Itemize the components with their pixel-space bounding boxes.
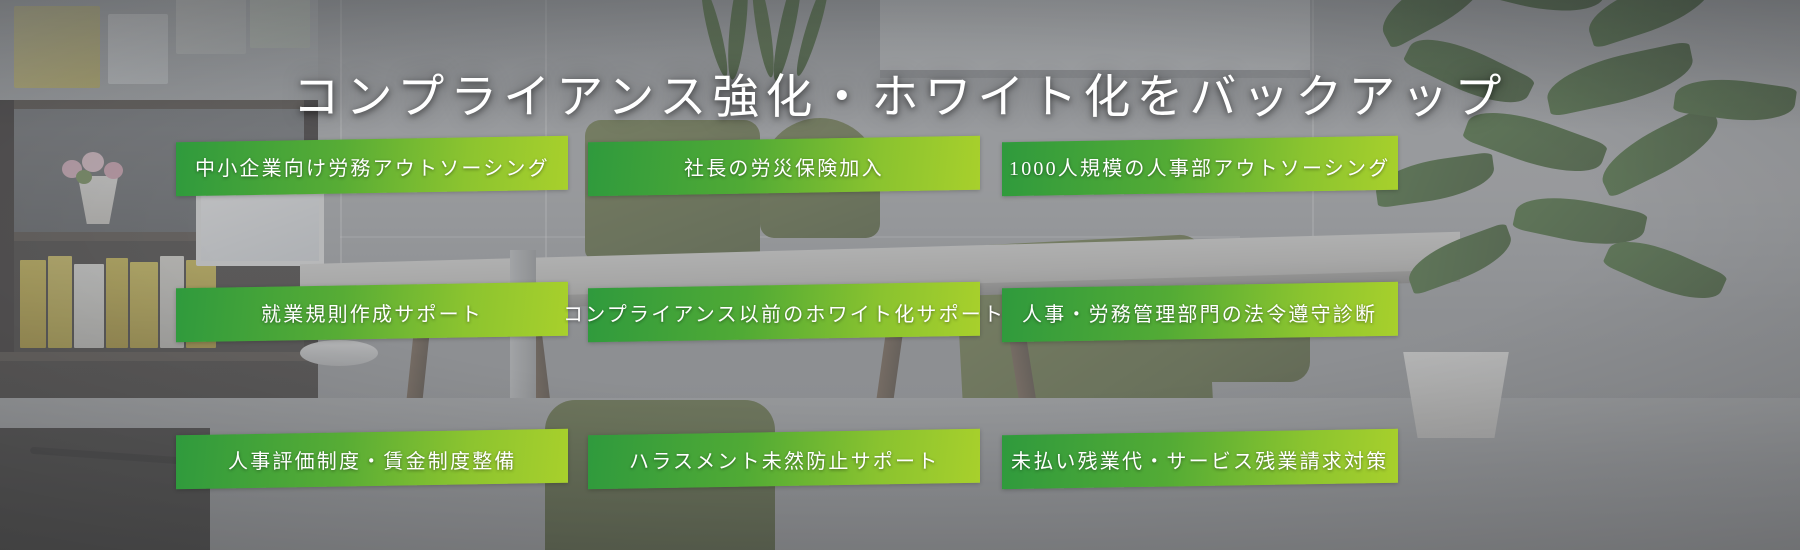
service-button-label: 社長の労災保険加入 [684,152,884,181]
services-grid: 中小企業向け労務アウトソーシング 社長の労災保険加入 1000人規模の人事部アウ… [176,139,1398,431]
services-row: 人事評価制度・賃金制度整備 ハラスメント未然防止サポート 未払い残業代・サービス… [176,285,1398,358]
services-row: 中小企業向け労務アウトソーシング 社長の労災保険加入 1000人規模の人事部アウ… [176,139,1398,212]
service-button-label: 1000人規模の人事部アウトソーシング [1009,152,1390,181]
services-row: 是正勧告や行政調査対策 問題社員対策 定年再雇用対策 [176,358,1398,431]
hero-section: コンプライアンス強化・ホワイト化をバックアップ 中小企業向け労務アウトソーシング… [0,0,1800,550]
service-button-label: 中小企業向け労務アウトソーシング [195,152,550,181]
service-button-evaluation-wage-system[interactable]: 人事評価制度・賃金制度整備 [176,429,568,490]
service-button-president-workers-comp[interactable]: 社長の労災保険加入 [588,136,980,197]
service-button-label: ハラスメント未然防止サポート [629,445,939,474]
page-title: コンプライアンス強化・ホワイト化をバックアップ [0,58,1800,127]
service-button-hr-dept-outsourcing[interactable]: 1000人規模の人事部アウトソーシング [1002,136,1398,197]
service-button-label: 未払い残業代・サービス残業請求対策 [1011,445,1388,474]
service-button-unpaid-overtime-measures[interactable]: 未払い残業代・サービス残業請求対策 [1002,429,1398,490]
service-button-harassment-prevention[interactable]: ハラスメント未然防止サポート [588,429,980,490]
service-button-label: 人事評価制度・賃金制度整備 [228,445,517,474]
hero-content: コンプライアンス強化・ホワイト化をバックアップ 中小企業向け労務アウトソーシング… [0,0,1800,550]
services-row: 就業規則作成サポート コンプライアンス以前のホワイト化サポート 人事・労務管理部… [176,212,1398,285]
service-button-sme-labor-outsourcing[interactable]: 中小企業向け労務アウトソーシング [176,136,568,197]
